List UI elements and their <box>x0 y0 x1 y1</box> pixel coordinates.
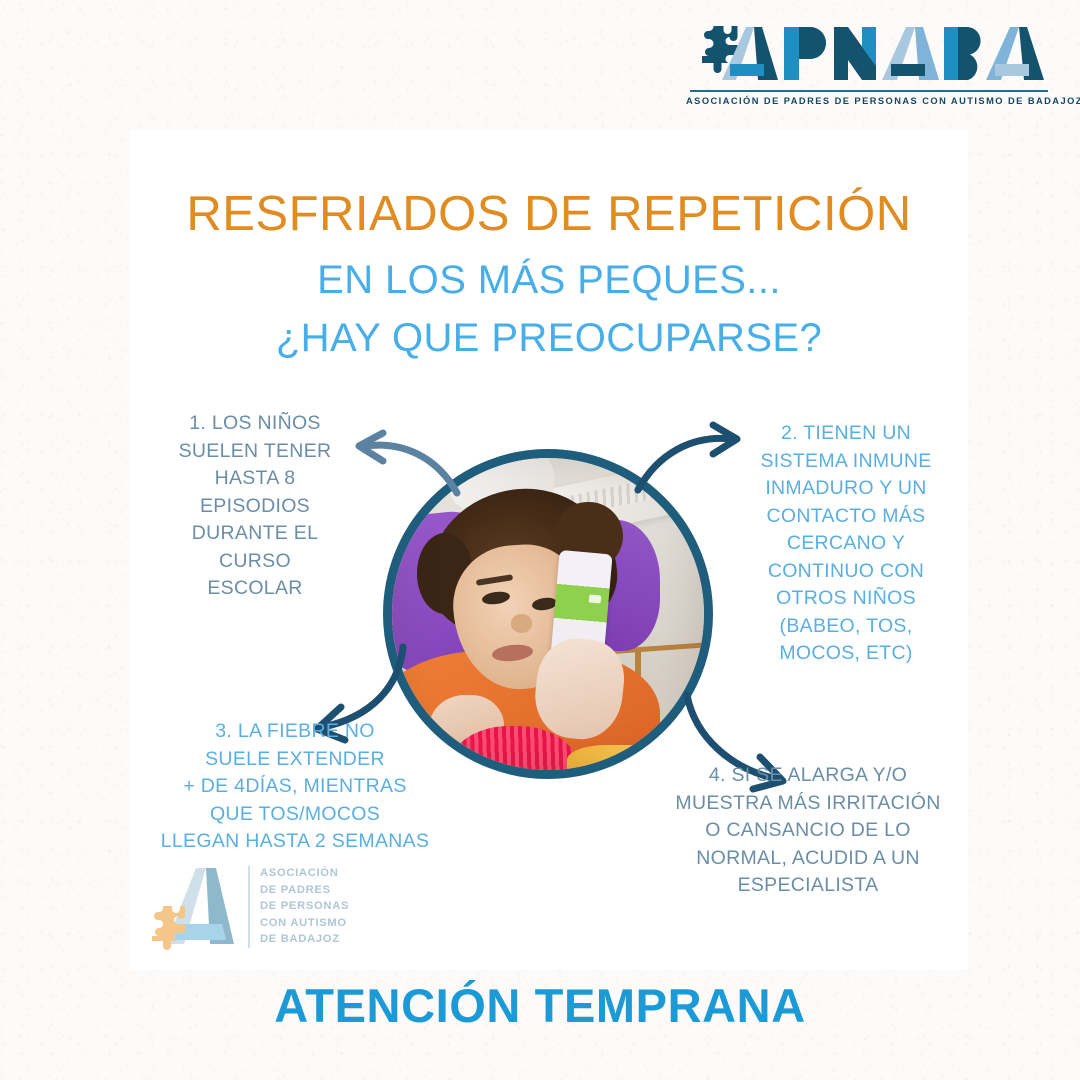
apnaba-footer-logo: ASOCIACIÓN DE PADRES DE PERSONAS CON AUT… <box>148 862 380 952</box>
footer-logo-line-4: CON AUTISMO <box>260 915 380 932</box>
footer-logo-line-2: DE PADRES <box>260 882 380 899</box>
footer-logo-line-3: DE PERSONAS <box>260 898 380 915</box>
apnaba-a-mark-icon <box>148 862 240 952</box>
fact-block-3: 3. LA FIEBRE NO SUELE EXTENDER + DE 4DÍA… <box>140 718 450 856</box>
fact-block-2: 2. TIENEN UN SISTEMA INMUNE INMADURO Y U… <box>740 420 952 668</box>
title-line-2: EN LOS MÁS PEQUES... <box>130 258 968 303</box>
apnaba-wordmark-icon <box>686 22 1052 86</box>
footer-logo-line-5: DE BADAJOZ <box>260 931 380 948</box>
fact-block-4: 4. SI SE ALARGA Y/O MUESTRA MÁS IRRITACI… <box>658 762 958 900</box>
fact-block-1: 1. LOS NIÑOS SUELEN TENER HASTA 8 EPISOD… <box>150 410 360 603</box>
footer-logo-line-1: ASOCIACIÓN <box>260 865 380 882</box>
title-line-3: ¿HAY QUE PREOCUPARSE? <box>130 316 968 361</box>
logo-divider-rule <box>690 90 1048 92</box>
title-line-1: RESFRIADOS DE REPETICIÓN <box>130 186 968 242</box>
bottom-banner-text: ATENCIÓN TEMPRANA <box>0 978 1080 1033</box>
footer-logo-text: ASOCIACIÓN DE PADRES DE PERSONAS CON AUT… <box>260 865 380 948</box>
footer-logo-divider <box>248 866 250 948</box>
apnaba-header-logo: ASOCIACIÓN DE PADRES DE PERSONAS CON AUT… <box>686 22 1052 118</box>
apnaba-tagline: ASOCIACIÓN DE PADRES DE PERSONAS CON AUT… <box>686 96 1052 106</box>
